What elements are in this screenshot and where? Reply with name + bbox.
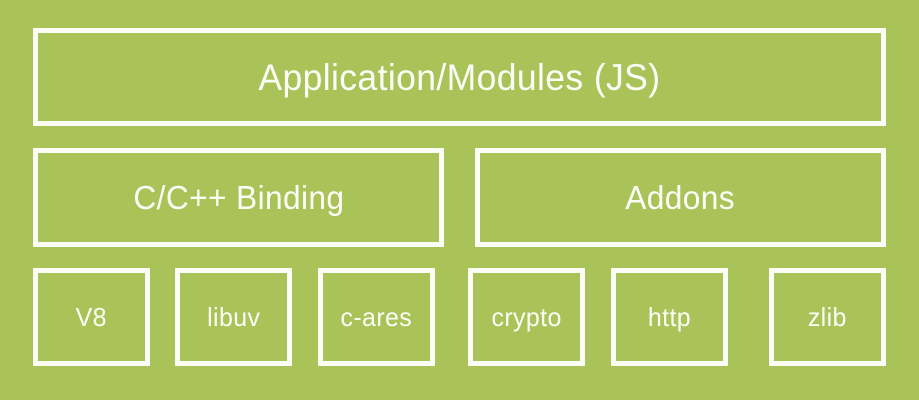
library-box-c-ares: c-ares [318, 268, 435, 366]
library-label-libuv: libuv [207, 304, 260, 330]
library-label-crypto: crypto [491, 304, 561, 330]
library-label-http: http [648, 304, 691, 330]
nodejs-architecture-diagram: Application/Modules (JS) C/C++ Binding A… [0, 0, 919, 400]
layer-label-application-modules: Application/Modules (JS) [258, 59, 660, 96]
library-label-v8: V8 [76, 304, 107, 330]
library-box-zlib: zlib [769, 268, 886, 366]
library-box-crypto: crypto [468, 268, 585, 366]
library-box-v8: V8 [33, 268, 150, 366]
layer-box-application-modules: Application/Modules (JS) [33, 28, 886, 126]
library-box-http: http [611, 268, 728, 366]
library-label-c-ares: c-ares [341, 304, 413, 330]
layer-box-c-cpp-binding: C/C++ Binding [33, 148, 444, 247]
library-box-libuv: libuv [175, 268, 292, 366]
layer-label-c-cpp-binding: C/C++ Binding [133, 181, 344, 214]
library-label-zlib: zlib [808, 304, 847, 330]
layer-box-addons: Addons [475, 148, 886, 247]
layer-label-addons: Addons [626, 181, 736, 214]
